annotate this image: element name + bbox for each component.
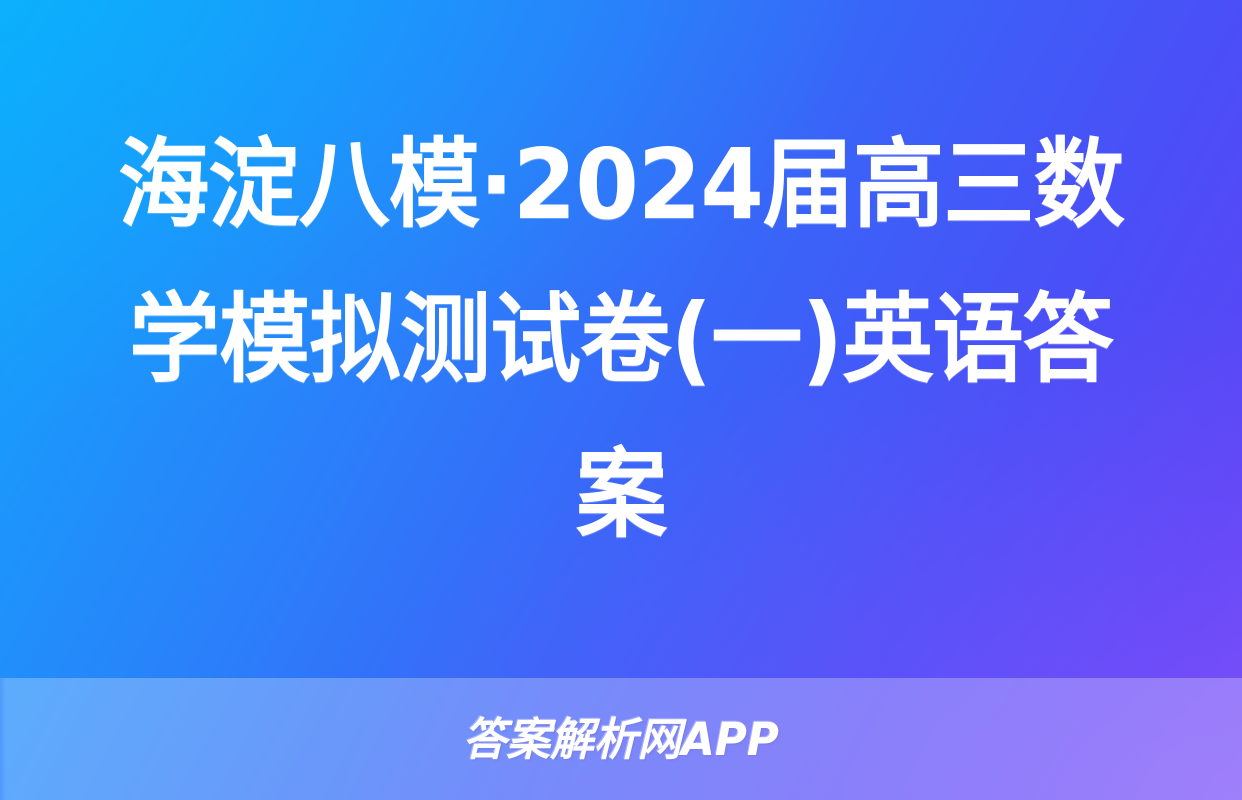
watermark-band: 答案解析网APP (0, 678, 1242, 800)
cover-card: 海淀八模·2024届高三数学模拟测试卷(一)英语答案 答案解析网APP (0, 0, 1242, 800)
page-title: 海淀八模·2024届高三数学模拟测试卷(一)英语答案 (109, 107, 1134, 572)
app-watermark: 答案解析网APP (463, 717, 779, 762)
title-area: 海淀八模·2024届高三数学模拟测试卷(一)英语答案 (0, 0, 1242, 678)
